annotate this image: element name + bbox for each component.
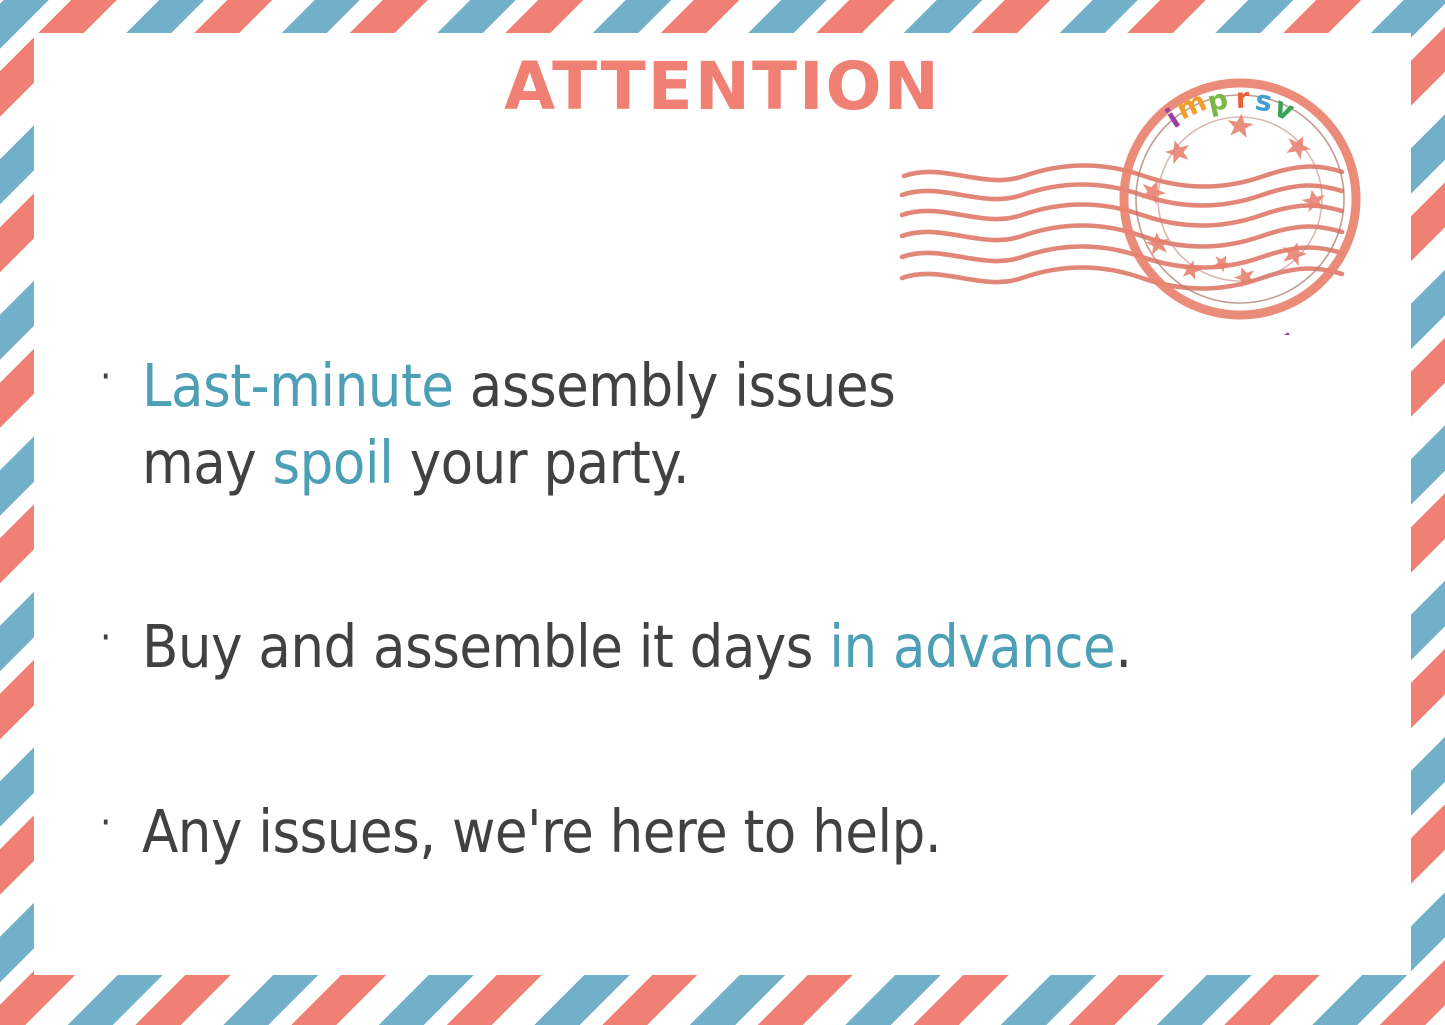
bullet-highlight: Last-minute (142, 351, 453, 420)
svg-text:v: v (1165, 332, 1195, 335)
bullet-text: Any issues, we're here to help. (142, 794, 1400, 871)
bullet-highlight: in advance (829, 612, 1115, 681)
bullet-text: Last-minute assembly issues may spoil yo… (142, 348, 1400, 501)
svg-text:v: v (1269, 90, 1299, 128)
stamp-brand-text-bottom: i m p r s v (1165, 325, 1304, 335)
bullet-plain: may (142, 428, 273, 497)
bullet-plain: . (1115, 612, 1131, 681)
bullet-marker: · (100, 609, 142, 667)
bullet-marker: · (100, 794, 142, 852)
postmark-svg: i m p r s v i m p r s v (890, 70, 1370, 335)
bullet-highlight: spoil (273, 428, 394, 497)
list-item: · Buy and assemble it days in advance. (100, 609, 1400, 686)
bullet-plain: assembly issues (453, 351, 895, 420)
bullet-text: Buy and assemble it days in advance. (142, 609, 1400, 686)
bullet-plain: Buy and assemble it days (142, 612, 829, 681)
bullet-marker: · (100, 348, 142, 406)
list-item: · Last-minute assembly issues may spoil … (100, 348, 1400, 501)
bullet-plain: Any issues, we're here to help. (142, 797, 941, 866)
list-item: · Any issues, we're here to help. (100, 794, 1400, 871)
svg-text:i: i (1278, 325, 1304, 335)
bullet-plain: your party. (393, 428, 689, 497)
attention-notice-card: ATTENTION (0, 0, 1445, 1025)
postmark-stamp: i m p r s v i m p r s v (890, 70, 1370, 335)
svg-text:r: r (1235, 82, 1250, 115)
bullet-list: · Last-minute assembly issues may spoil … (100, 348, 1400, 871)
